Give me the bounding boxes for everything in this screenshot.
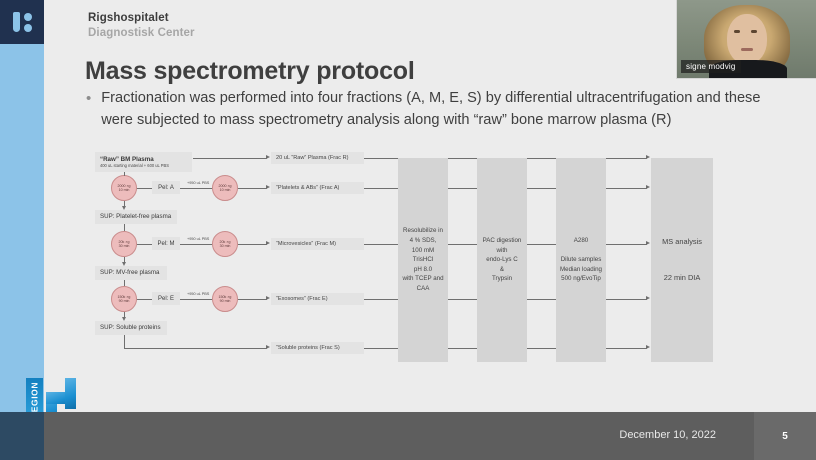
bus-a-1 xyxy=(364,188,398,189)
bus-r-1 xyxy=(364,158,398,159)
arrow-ms-m xyxy=(646,241,650,245)
node-pellet-a: Pel: A xyxy=(152,181,180,194)
spin-6-time: 90 min xyxy=(220,299,231,303)
link-raw-to-frac-r xyxy=(193,158,267,159)
step-resolubilize: Resolubilize in 4 % SDS, 100 mM TrisHCl … xyxy=(398,158,448,362)
bus-e-3 xyxy=(527,299,556,300)
arrow-frac-m xyxy=(266,241,270,245)
organisation-name: Rigshospitalet xyxy=(88,12,169,24)
link-sup-to-frac-s xyxy=(124,348,267,349)
bullet-marker-icon: • xyxy=(86,88,91,131)
link-pel-m-spin4 xyxy=(180,244,212,245)
node-pellet-m: Pel: M xyxy=(152,237,180,250)
link-spin2-to-frac-a xyxy=(238,188,267,189)
frac-box-r: 20 uL “Raw” Plasma (Frac R) xyxy=(271,152,364,164)
bus-a-4 xyxy=(606,188,647,189)
link-spin5-pel-e xyxy=(137,299,152,300)
spin-1-time: 10 min xyxy=(119,188,130,192)
arrow-ms-a xyxy=(646,185,650,189)
footer-date: December 10, 2022 xyxy=(619,429,716,441)
spin-circle-5: 150k ×g 90 min xyxy=(111,286,137,312)
protocol-flow-diagram: “Raw” BM Plasma 400 uL starting material… xyxy=(95,148,755,368)
webcam-person-face xyxy=(727,14,767,64)
link-spin6-to-frac-e xyxy=(238,299,267,300)
link-pel-a-spin2 xyxy=(180,188,212,189)
slide-footer: December 10, 2022 5 xyxy=(0,412,816,460)
chain-arrow-3 xyxy=(122,317,126,321)
link-spin1-pel-a xyxy=(137,188,152,189)
page-title: Mass spectrometry protocol xyxy=(85,57,415,86)
arrow-ms-r xyxy=(646,155,650,159)
link-spin4-to-frac-m xyxy=(238,244,267,245)
spin-circle-3: 20k ×g 30 min xyxy=(111,231,137,257)
department-name: Diagnostisk Center xyxy=(88,27,195,39)
link-spin3-pel-m xyxy=(137,244,152,245)
bus-m-1 xyxy=(364,244,398,245)
arrow-ms-s xyxy=(646,345,650,349)
frac-box-m: “Microvesicles” (Frac M) xyxy=(271,238,364,250)
logo-dots-shape xyxy=(24,13,32,32)
spin-circle-6: 150k ×g 90 min xyxy=(212,286,238,312)
bus-s-3 xyxy=(527,348,556,349)
node-sup-mv-free: SUP: MV-free plasma xyxy=(95,266,167,280)
spin-2-time: 10 min xyxy=(220,188,231,192)
bus-s-2 xyxy=(448,348,477,349)
frac-box-s: “Soluble proteins (Frac S) xyxy=(271,342,364,354)
arrow-frac-s xyxy=(266,345,270,349)
bus-s-4 xyxy=(606,348,647,349)
bus-a-3 xyxy=(527,188,556,189)
node-raw-bm-plasma: “Raw” BM Plasma 400 uL starting material… xyxy=(95,152,192,172)
wash-label-1: +950 uL PBS xyxy=(187,181,209,185)
spin-circle-4: 20k ×g 30 min xyxy=(212,231,238,257)
spin-circle-2: 2000 ×g 10 min xyxy=(212,175,238,201)
step-pac-digestion: PAC digestion with endo-Lys C & Trypsin xyxy=(477,158,527,362)
footer-left-block xyxy=(0,412,44,460)
node-sup-platelet-free: SUP: Platelet-free plasma xyxy=(95,210,177,224)
frac-box-e: “Exosomes” (Frac E) xyxy=(271,293,364,305)
spin-circle-1: 2000 ×g 10 min xyxy=(111,175,137,201)
link-pel-e-spin6 xyxy=(180,299,212,300)
bus-e-4 xyxy=(606,299,647,300)
node-raw-subtitle: 400 uL starting material + 600 uL PBS xyxy=(100,164,169,169)
h-right-stroke xyxy=(65,378,76,409)
logo-dot-top xyxy=(24,13,32,21)
bus-r-2 xyxy=(448,158,477,159)
spin-5-time: 90 min xyxy=(119,299,130,303)
bus-r-4 xyxy=(606,158,647,159)
wash-label-3: +950 uL PBS xyxy=(187,292,209,296)
bus-m-2 xyxy=(448,244,477,245)
chain-line-5 xyxy=(124,280,125,286)
webcam-person-mouth xyxy=(741,48,753,51)
link-sup-down xyxy=(124,335,125,348)
logo-dot-bottom xyxy=(24,24,32,32)
footer-page-number: 5 xyxy=(754,412,816,460)
wash-label-2: +950 uL PBS xyxy=(187,237,209,241)
bus-s-1 xyxy=(364,348,398,349)
webcam-person-eye-left xyxy=(734,30,740,33)
bus-e-2 xyxy=(448,299,477,300)
bus-m-4 xyxy=(606,244,647,245)
chain-arrow-2 xyxy=(122,262,126,266)
arrow-frac-r xyxy=(266,155,270,159)
bus-a-2 xyxy=(448,188,477,189)
bullet-text: Fractionation was performed into four fr… xyxy=(101,88,776,131)
bus-e-1 xyxy=(364,299,398,300)
node-pellet-e: Pel: E xyxy=(152,292,180,305)
spin-3-time: 30 min xyxy=(119,244,130,248)
step-a280-dilution: A280 Dilute samples Median loading 500 n… xyxy=(556,158,606,362)
slide-canvas: REGION Rigshospitalet Diagnostisk Center… xyxy=(0,0,816,460)
chain-arrow-1 xyxy=(122,206,126,210)
logo-bar-shape xyxy=(13,12,20,32)
arrow-frac-a xyxy=(266,185,270,189)
left-accent-rail xyxy=(0,0,44,412)
webcam-tile[interactable]: signe modvig xyxy=(676,0,816,79)
webcam-person-eye-right xyxy=(751,30,757,33)
chain-line-1 xyxy=(124,172,125,176)
frac-box-a: “Platelets & ABs” (Frac A) xyxy=(271,182,364,194)
spin-4-time: 30 min xyxy=(220,244,231,248)
node-raw-title: “Raw” BM Plasma xyxy=(100,156,154,163)
arrow-frac-e xyxy=(266,296,270,300)
bus-r-3 xyxy=(527,158,556,159)
webcam-name-label: signe modvig xyxy=(681,60,741,73)
node-sup-soluble: SUP: Soluble proteins xyxy=(95,321,167,335)
bullet-item: • Fractionation was performed into four … xyxy=(86,88,776,131)
region-h-logo-icon xyxy=(0,0,44,44)
bus-m-3 xyxy=(527,244,556,245)
chain-line-3 xyxy=(124,224,125,231)
arrow-ms-e xyxy=(646,296,650,300)
step-ms-analysis: MS analysis 22 min DIA xyxy=(651,158,713,362)
